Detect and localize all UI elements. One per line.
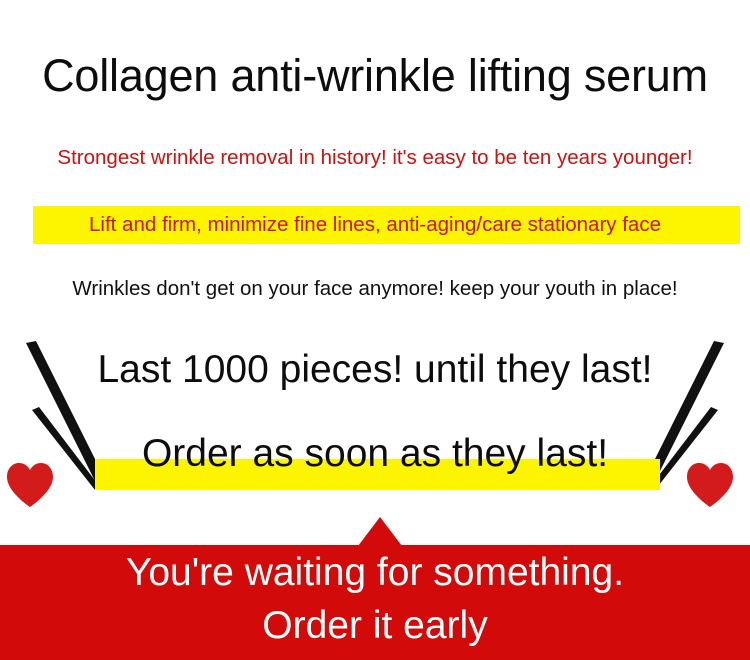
- highlight-text: Lift and firm, minimize fine lines, anti…: [0, 213, 750, 237]
- promo-line-2: Order as soon as they last!: [0, 432, 750, 476]
- promo-line-1: Last 1000 pieces! until they last!: [0, 348, 750, 392]
- promo-poster: Collagen anti-wrinkle lifting serum Stro…: [0, 0, 750, 660]
- page-title: Collagen anti-wrinkle lifting serum: [0, 52, 750, 99]
- heart-icon: [685, 462, 735, 508]
- banner-line-1: You're waiting for something.: [0, 551, 750, 595]
- heart-icon: [5, 462, 55, 508]
- banner-arrow-icon: [358, 517, 402, 546]
- tagline-black: Wrinkles don't get on your face anymore!…: [0, 277, 750, 301]
- tagline-red: Strongest wrinkle removal in history! it…: [0, 146, 750, 170]
- banner-line-2: Order it early: [0, 604, 750, 648]
